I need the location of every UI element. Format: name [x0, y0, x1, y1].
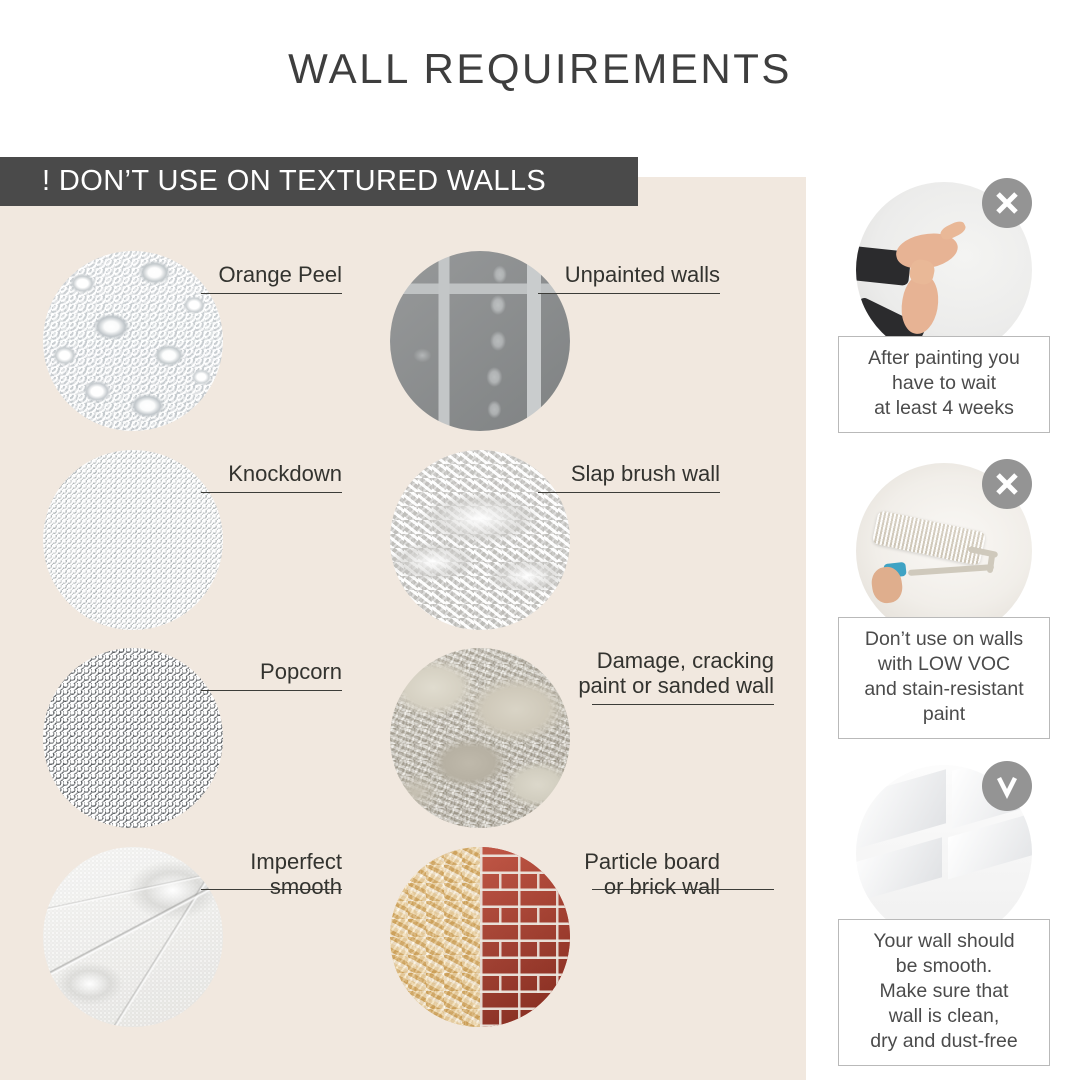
texture-label: Damage, cracking paint or sanded wall [450, 649, 774, 698]
texture-label-underline [201, 889, 342, 890]
tip-card-text: Don’t use on walls with LOW VOC and stai… [838, 617, 1050, 739]
tip-card-smooth-wall[interactable]: Your wall should be smooth. Make sure th… [838, 765, 1050, 1066]
check-icon [982, 761, 1032, 811]
texture-label-underline [538, 492, 720, 493]
texture-label: Imperfect smooth [120, 850, 342, 899]
roller-handle-bar [908, 564, 994, 576]
tip-card-text: After painting you have to wait at least… [838, 336, 1050, 433]
roller-sleeve [872, 510, 987, 566]
tip-card-text: Your wall should be smooth. Make sure th… [838, 919, 1050, 1066]
roller-elbow [987, 553, 996, 574]
tip-card-wait-4-weeks[interactable]: After painting you have to wait at least… [838, 182, 1050, 433]
texture-label-underline [201, 690, 342, 691]
texture-label: Orange Peel [120, 263, 342, 288]
texture-label-underline [201, 293, 342, 294]
texture-label-underline [592, 704, 774, 705]
texture-label: Knockdown [120, 462, 342, 487]
texture-label: Slap brush wall [450, 462, 720, 487]
texture-label-underline [201, 492, 342, 493]
texture-label-underline [592, 889, 774, 890]
texture-label: Unpainted walls [450, 263, 720, 288]
texture-label: Particle board or brick wall [450, 850, 720, 899]
tip-card-low-voc[interactable]: Don’t use on walls with LOW VOC and stai… [838, 463, 1050, 739]
window-light-pane-3 [856, 837, 942, 905]
texture-item-particle-board-brick[interactable]: Particle board or brick wall [0, 0, 180, 180]
cross-icon [982, 459, 1032, 509]
texture-label-underline [538, 293, 720, 294]
texture-label: Popcorn [120, 660, 342, 685]
window-light-pane-1 [856, 769, 946, 851]
cross-icon [982, 178, 1032, 228]
